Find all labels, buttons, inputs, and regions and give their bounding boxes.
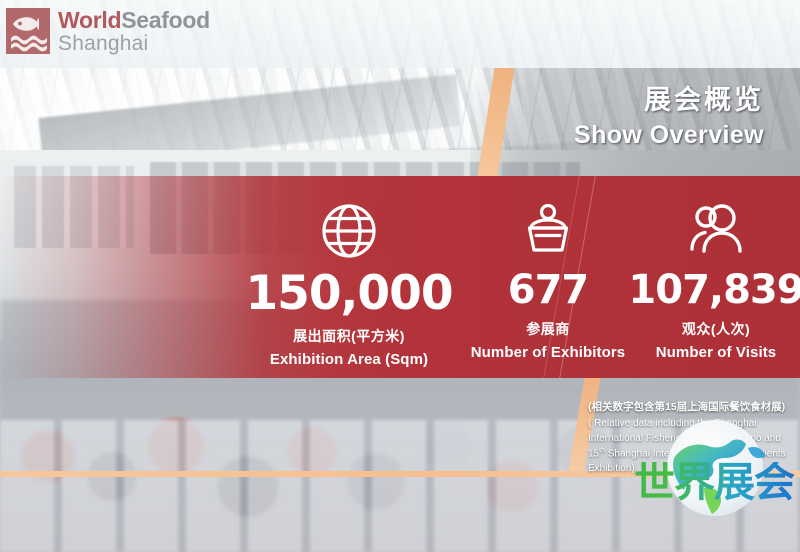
stat-label-en: Number of Visits [628, 344, 800, 361]
brand-logo: WorldSeafood Shanghai [6, 8, 210, 54]
stat-label-cn: 参展商 [455, 319, 641, 339]
stat-exhibition-area: 150,000 展出面积(平方米) Exhibition Area (Sqm) [208, 200, 490, 368]
page-title: 展会概览 Show Overview [574, 78, 764, 150]
stat-value: 677 [455, 270, 641, 310]
stat-label-en: Number of Exhibitors [455, 344, 641, 361]
visitors-people-icon [628, 200, 800, 262]
stats-row: 150,000 展出面积(平方米) Exhibition Area (Sqm) … [0, 176, 800, 378]
stat-label-cn: 观众(人次) [628, 319, 800, 339]
footnote-cn: (相关数字包含第15届上海国际餐饮食材展) [588, 400, 800, 414]
page-title-en: Show Overview [574, 121, 764, 150]
stat-label-en: Exhibition Area (Sqm) [208, 351, 490, 368]
stat-number-of-exhibitors: 677 参展商 Number of Exhibitors [455, 200, 641, 361]
stat-label-cn: 展出面积(平方米) [208, 326, 490, 346]
stat-value: 150,000 [208, 270, 490, 317]
watermark-text: 世界展会 [634, 462, 800, 503]
page-title-cn: 展会概览 [574, 78, 764, 117]
stat-number-of-visits: 107,839 观众(人次) Number of Visits [628, 200, 800, 361]
brand-name-seafood: Seafood [121, 7, 210, 33]
brand-city: Shanghai [58, 33, 210, 54]
brand-wordmark: WorldSeafood Shanghai [58, 9, 210, 54]
brand-name-world: World [58, 7, 121, 33]
top-banner: WorldSeafood Shanghai [0, 0, 800, 68]
exhibitor-booth-icon [455, 200, 641, 262]
fish-waves-logo-icon [6, 8, 50, 54]
footnote-en-line-3-pre: 15 [588, 449, 599, 460]
watermark: 世界展会 [630, 418, 800, 530]
show-overview-graphic: WorldSeafood Shanghai 展会概览 Show Overview [0, 0, 800, 552]
stat-value: 107,839 [628, 270, 800, 310]
globe-icon [208, 200, 490, 262]
